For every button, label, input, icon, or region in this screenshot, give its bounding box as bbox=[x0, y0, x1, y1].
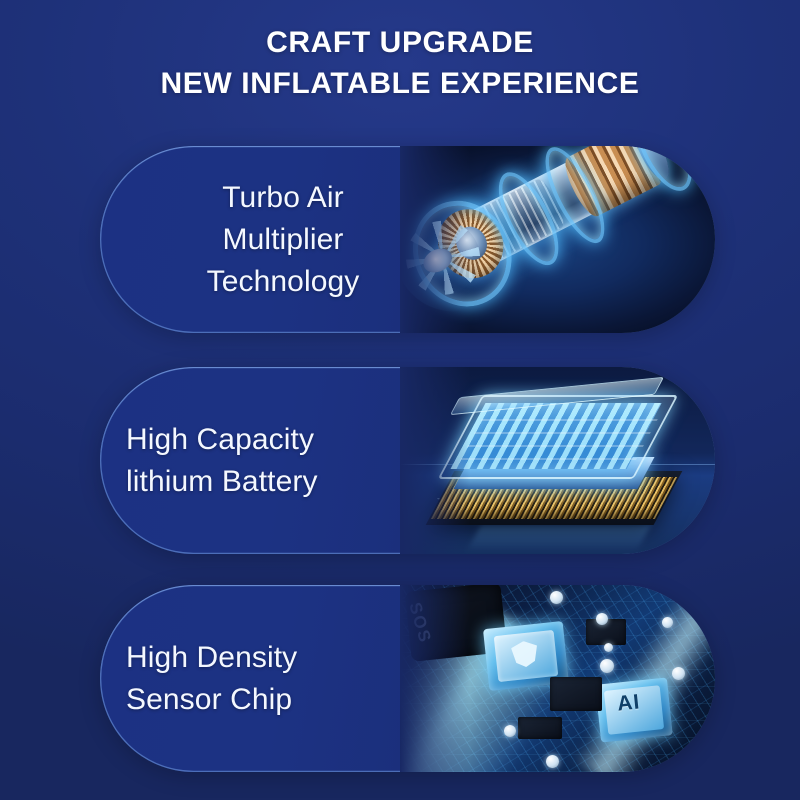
feature-card-turbo-air: Turbo Air Multiplier Technology bbox=[100, 146, 715, 333]
pcb-component bbox=[518, 717, 562, 739]
pcb-capacitor bbox=[550, 591, 563, 604]
battery-reflection bbox=[467, 525, 651, 551]
card-title-line: Turbo Air bbox=[222, 177, 344, 219]
feature-card-sensor-chip-label: High Density Sensor Chip bbox=[126, 585, 466, 772]
pcb-capacitor bbox=[504, 725, 516, 737]
card-title-line: Multiplier bbox=[222, 219, 343, 261]
feature-card-lithium-battery: High Capacity lithium Battery bbox=[100, 367, 715, 554]
page-title-line-1: CRAFT UPGRADE bbox=[0, 22, 800, 63]
pcb-capacitor bbox=[596, 613, 608, 625]
pcb-capacitor bbox=[600, 659, 614, 673]
card-title-line: lithium Battery bbox=[126, 461, 318, 503]
page-title-line-2: NEW INFLATABLE EXPERIENCE bbox=[0, 63, 800, 104]
card-title-line: Sensor Chip bbox=[126, 679, 292, 721]
feature-card-lithium-battery-label: High Capacity lithium Battery bbox=[126, 367, 466, 554]
pcb-capacitor bbox=[672, 667, 685, 680]
pcb-capacitor bbox=[662, 617, 673, 628]
card-title-line: High Capacity bbox=[126, 419, 314, 461]
pcb-capacitor bbox=[546, 755, 559, 768]
card-title-line: High Density bbox=[126, 637, 297, 679]
ai-chip: AI bbox=[595, 677, 673, 742]
battery-pack-assembly bbox=[434, 385, 684, 540]
shield-icon bbox=[511, 640, 540, 669]
page-title: CRAFT UPGRADE NEW INFLATABLE EXPERIENCE bbox=[0, 22, 800, 104]
pcb-component bbox=[550, 677, 602, 711]
ai-label: AI bbox=[616, 690, 641, 716]
card-title-line: Technology bbox=[207, 261, 360, 303]
feature-card-turbo-air-label: Turbo Air Multiplier Technology bbox=[118, 146, 448, 333]
turbine-motor-assembly bbox=[403, 146, 709, 307]
product-feature-infographic: CRAFT UPGRADE NEW INFLATABLE EXPERIENCE … bbox=[0, 0, 800, 800]
pcb-capacitor bbox=[604, 643, 613, 652]
feature-card-sensor-chip: High Density Sensor Chip SOS AI bbox=[100, 585, 715, 772]
